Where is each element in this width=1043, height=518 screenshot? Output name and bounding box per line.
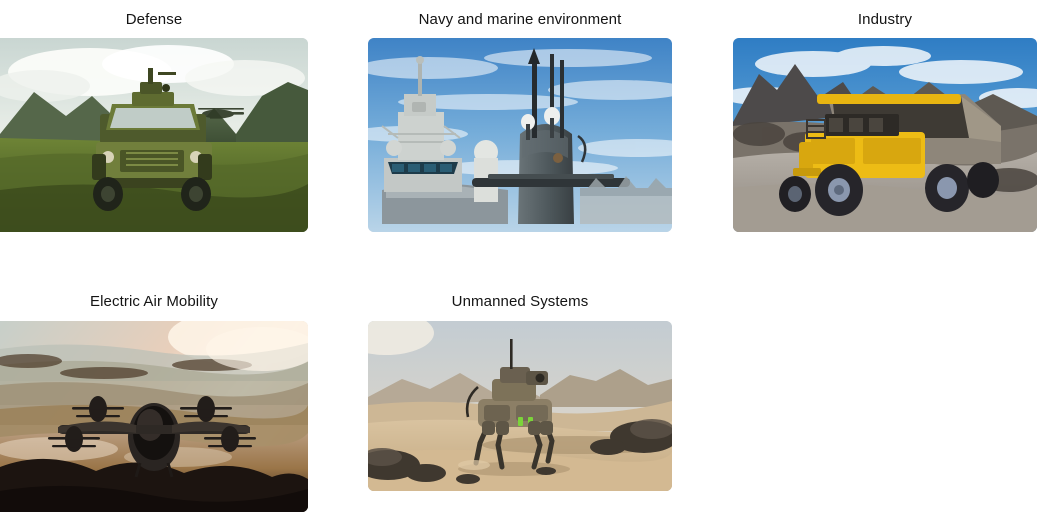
card-image-unmanned-systems[interactable] (368, 321, 672, 491)
card-image-industry[interactable] (733, 38, 1037, 232)
gallery-card-industry[interactable]: Industry (733, 11, 1037, 232)
card-title: Unmanned Systems (368, 293, 672, 311)
industry-illustration (733, 38, 1037, 232)
gallery-card-defense[interactable]: Defense (0, 11, 308, 232)
card-title: Navy and marine environment (368, 11, 672, 29)
card-image-defense[interactable] (0, 38, 308, 232)
gallery-card-navy-marine[interactable]: Navy and marine environment (368, 11, 672, 232)
card-image-navy-marine[interactable] (368, 38, 672, 232)
defense-illustration (0, 38, 308, 232)
gallery-card-electric-air-mobility[interactable]: Electric Air Mobility (0, 293, 308, 512)
evtol-illustration (0, 321, 308, 512)
gallery-card-unmanned-systems[interactable]: Unmanned Systems (368, 293, 672, 491)
navy-illustration (368, 38, 672, 232)
card-title: Industry (733, 11, 1037, 29)
card-title: Electric Air Mobility (0, 293, 308, 311)
robot-dog-illustration (368, 321, 672, 491)
domain-gallery: Defense (0, 0, 1043, 518)
card-image-electric-air-mobility[interactable] (0, 321, 308, 512)
card-title: Defense (0, 11, 308, 29)
